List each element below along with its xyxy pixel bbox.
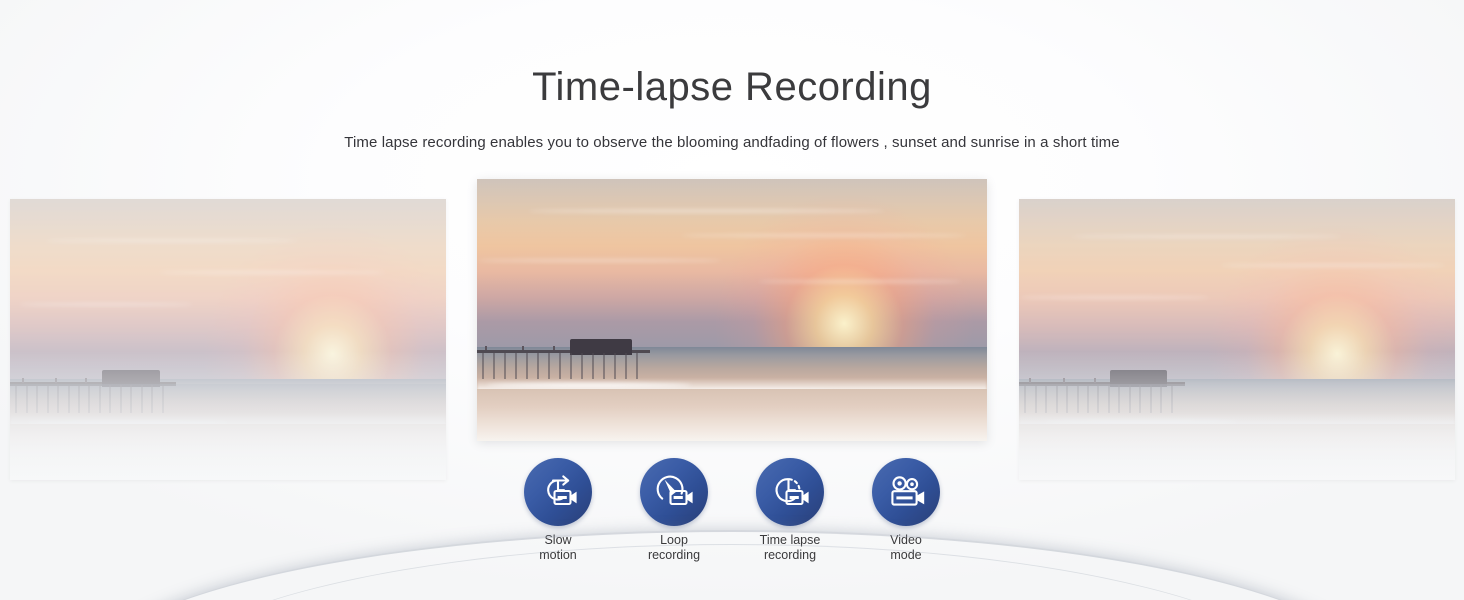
- pier-piling: [1160, 385, 1162, 413]
- feature-label: Slow motion: [524, 533, 592, 563]
- page-title: Time-lapse Recording: [0, 64, 1464, 110]
- sky-layer: [1019, 199, 1455, 379]
- sand-layer: [477, 389, 987, 441]
- cloud-streak: [477, 259, 722, 262]
- pier-piling: [603, 353, 605, 379]
- sand-layer: [1019, 424, 1455, 480]
- pier-piling: [614, 353, 616, 379]
- pier-piling: [1150, 385, 1152, 413]
- cloud-streak: [681, 234, 967, 237]
- pier-piling: [1066, 385, 1068, 413]
- feature-list: Slow motion Loop recording: [477, 458, 987, 563]
- cloud-streak: [758, 280, 962, 283]
- pier-piling: [26, 385, 28, 413]
- pier-piling: [625, 353, 627, 379]
- time-lapse-camera-icon[interactable]: [756, 458, 824, 526]
- pier-piling: [47, 385, 49, 413]
- pier-piling: [141, 385, 143, 413]
- pier-piling: [130, 385, 132, 413]
- cloud-streak: [1071, 235, 1341, 238]
- pier-piling: [1087, 385, 1089, 413]
- gallery-photo-right: [1019, 199, 1455, 480]
- wave: [487, 383, 691, 387]
- pier-silhouette: [10, 370, 176, 415]
- pier-lamp: [55, 378, 57, 382]
- pier-lamp: [1063, 378, 1065, 382]
- pier-lamp: [522, 346, 524, 350]
- pier-piling: [99, 385, 101, 413]
- feature-label: Time lapse recording: [756, 533, 824, 563]
- pier-lamp: [85, 378, 87, 382]
- pier-piling: [15, 385, 17, 413]
- cloud-streak: [1220, 264, 1447, 267]
- pier-piling: [57, 385, 59, 413]
- pier-piling: [1118, 385, 1120, 413]
- gallery-photo-left: [10, 199, 446, 480]
- pier-piling: [592, 353, 594, 379]
- pier-piling: [1045, 385, 1047, 413]
- cloud-streak: [158, 271, 385, 274]
- pier-piling: [548, 353, 550, 379]
- feature-video-mode[interactable]: Video mode: [872, 458, 940, 563]
- pier-piling: [109, 385, 111, 413]
- pier-silhouette: [1019, 370, 1185, 415]
- pier-piling: [162, 385, 164, 413]
- pier-piling: [68, 385, 70, 413]
- pier-piling: [1035, 385, 1037, 413]
- sunset-scene: [10, 199, 446, 480]
- pier-piling: [151, 385, 153, 413]
- pier-piling: [515, 353, 517, 379]
- pier-piling: [570, 353, 572, 379]
- pier-piling: [1077, 385, 1079, 413]
- heading-block: Time-lapse Recording Time lapse recordin…: [0, 0, 1464, 151]
- pier-piling: [526, 353, 528, 379]
- page-subtitle: Time lapse recording enables you to obse…: [0, 134, 1464, 151]
- pier-piling: [1171, 385, 1173, 413]
- sky-layer: [477, 179, 987, 347]
- cloud-streak: [19, 303, 193, 306]
- video-mode-camera-icon[interactable]: [872, 458, 940, 526]
- loop-recording-camera-icon[interactable]: [640, 458, 708, 526]
- pier-silhouette: [477, 339, 650, 381]
- pier-piling: [120, 385, 122, 413]
- pier-piling: [78, 385, 80, 413]
- pier-piling: [504, 353, 506, 379]
- pier-piling: [636, 353, 638, 379]
- feature-label: Video mode: [872, 533, 940, 563]
- feature-loop-recording[interactable]: Loop recording: [640, 458, 708, 563]
- cloud-streak: [528, 209, 885, 213]
- pier-lamp: [553, 346, 555, 350]
- pier-piling: [1139, 385, 1141, 413]
- pier-lamp: [1094, 378, 1096, 382]
- slow-motion-camera-icon[interactable]: [524, 458, 592, 526]
- pier-piling: [559, 353, 561, 379]
- pier-piling: [493, 353, 495, 379]
- gallery-photo-center: [477, 179, 987, 441]
- cloud-streak: [1019, 296, 1211, 299]
- pier-piling: [1024, 385, 1026, 413]
- sky-layer: [10, 199, 446, 379]
- pier-piling: [1056, 385, 1058, 413]
- feature-time-lapse-recording[interactable]: Time lapse recording: [756, 458, 824, 563]
- pier-lamp: [22, 378, 24, 382]
- pier-piling: [537, 353, 539, 379]
- pier-piling: [1108, 385, 1110, 413]
- pier-piling: [36, 385, 38, 413]
- pier-house: [570, 339, 632, 355]
- feature-slow-motion[interactable]: Slow motion: [524, 458, 592, 563]
- page-stage: Time-lapse Recording Time lapse recordin…: [0, 0, 1464, 600]
- cloud-streak: [45, 239, 298, 242]
- feature-label: Loop recording: [640, 533, 708, 563]
- sunset-scene: [1019, 199, 1455, 480]
- sand-layer: [10, 424, 446, 480]
- pier-piling: [482, 353, 484, 379]
- pier-lamp: [1029, 378, 1031, 382]
- pier-piling: [88, 385, 90, 413]
- pier-piling: [581, 353, 583, 379]
- pier-lamp: [485, 346, 487, 350]
- pier-piling: [1129, 385, 1131, 413]
- sunset-scene: [477, 179, 987, 441]
- pier-piling: [1097, 385, 1099, 413]
